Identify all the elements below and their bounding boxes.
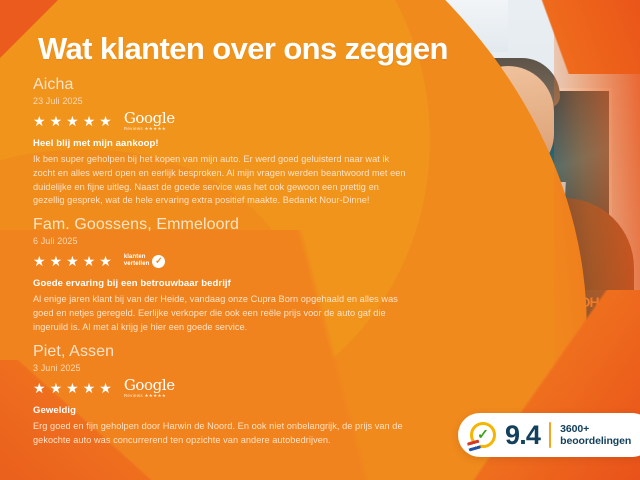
- check-icon: ✓: [477, 427, 489, 441]
- google-wordmark: Google: [124, 111, 175, 126]
- klantenvertellen-line2: vertellen: [124, 261, 150, 269]
- review-banner: VDH Wat klanten over ons zeggen Aicha 23…: [0, 0, 640, 480]
- review-author-name: Aicha: [33, 76, 411, 94]
- google-reviews-logo: Google Reviews ★★★★★: [124, 111, 175, 132]
- star-icon: ★: [66, 254, 79, 268]
- review-meta: ★ ★ ★ ★ ★ Google Reviews ★★★★★: [33, 379, 411, 397]
- review-meta: ★ ★ ★ ★ ★ klanten vertellen: [33, 252, 411, 270]
- page-title: Wat klanten over ons zeggen: [38, 32, 448, 66]
- overall-rating-badge[interactable]: ✓ 9.4 3600+ beoordelingen: [458, 413, 640, 457]
- rating-score: 9.4: [505, 422, 540, 449]
- review-card: Aicha 23 Juli 2025 ★ ★ ★ ★ ★ Google Revi…: [33, 76, 411, 208]
- klantenvertellen-logo: klanten vertellen: [124, 254, 166, 269]
- star-rating: ★ ★ ★ ★ ★: [33, 381, 112, 395]
- rating-count-label: beoordelingen: [560, 435, 631, 448]
- dutch-flag-icon: [467, 440, 481, 452]
- star-icon: ★: [50, 381, 63, 395]
- review-card: Fam. Goossens, Emmeloord 6 Juli 2025 ★ ★…: [33, 216, 411, 334]
- star-icon: ★: [99, 114, 112, 128]
- klantenvertellen-seal-icon: ✓: [470, 422, 496, 448]
- star-icon: ★: [33, 381, 46, 395]
- review-title: Heel blij met mijn aankoop!: [33, 138, 411, 149]
- star-icon: ★: [66, 381, 79, 395]
- review-date: 6 Juli 2025: [33, 236, 411, 246]
- google-reviews-sublabel: Reviews ★★★★★: [124, 394, 175, 399]
- review-body: Ik ben super geholpen bij het kopen van …: [33, 153, 411, 207]
- google-reviews-sublabel: Reviews ★★★★★: [124, 127, 175, 132]
- star-icon: ★: [83, 254, 96, 268]
- star-icon: ★: [50, 114, 63, 128]
- review-body: Erg goed en fijn geholpen door Harwin de…: [33, 420, 411, 447]
- rating-count: 3600+: [560, 423, 631, 436]
- klantenvertellen-line1: klanten: [124, 254, 150, 262]
- review-title: Geweldig: [33, 405, 411, 416]
- check-circle-icon: [152, 255, 165, 268]
- star-icon: ★: [33, 254, 46, 268]
- review-card: Piet, Assen 3 Juni 2025 ★ ★ ★ ★ ★ Google…: [33, 343, 411, 448]
- star-rating: ★ ★ ★ ★ ★: [33, 254, 112, 268]
- star-rating: ★ ★ ★ ★ ★: [33, 114, 112, 128]
- review-meta: ★ ★ ★ ★ ★ Google Reviews ★★★★★: [33, 112, 411, 130]
- star-icon: ★: [83, 114, 96, 128]
- star-icon: ★: [66, 114, 79, 128]
- star-icon: ★: [50, 254, 63, 268]
- star-icon: ★: [33, 114, 46, 128]
- review-author-name: Fam. Goossens, Emmeloord: [33, 216, 411, 234]
- star-icon: ★: [99, 254, 112, 268]
- rating-divider: [549, 422, 551, 448]
- review-body: Al enige jaren klant bij van der Heide, …: [33, 293, 411, 334]
- star-icon: ★: [99, 381, 112, 395]
- review-author-name: Piet, Assen: [33, 343, 411, 361]
- review-date: 23 Juli 2025: [33, 96, 411, 106]
- review-date: 3 Juni 2025: [33, 363, 411, 373]
- star-icon: ★: [83, 381, 96, 395]
- rating-count-block: 3600+ beoordelingen: [560, 423, 631, 448]
- klantenvertellen-wordmark: klanten vertellen: [124, 254, 150, 269]
- google-reviews-logo: Google Reviews ★★★★★: [124, 378, 175, 399]
- banner-content: Wat klanten over ons zeggen Aicha 23 Jul…: [0, 0, 640, 480]
- google-wordmark: Google: [124, 378, 175, 393]
- review-title: Goede ervaring bij een betrouwbaar bedri…: [33, 278, 411, 289]
